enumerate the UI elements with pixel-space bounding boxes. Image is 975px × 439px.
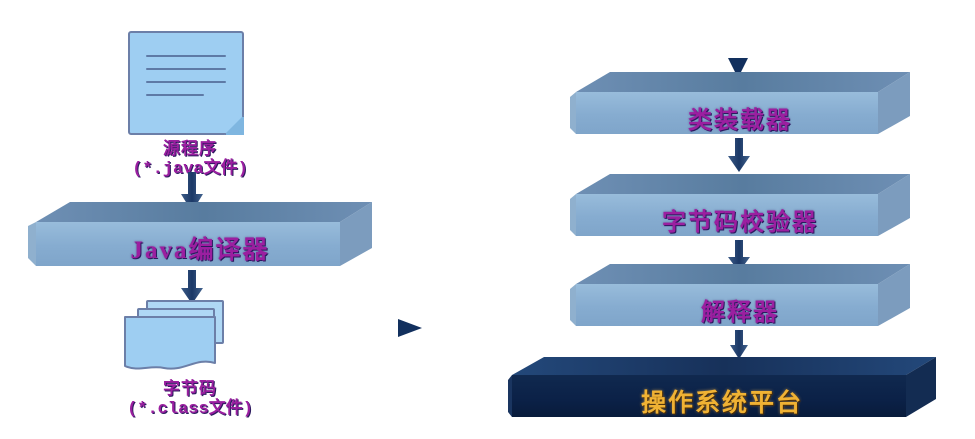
bytecode-caption-line2: (*.class文件) xyxy=(95,399,285,420)
node-interpreter[interactable]: 解释器 xyxy=(570,262,910,330)
bytecode-verifier-shape xyxy=(570,172,910,240)
node-bytecode-verifier[interactable]: 字节码校验器 xyxy=(570,172,910,240)
source-file-caption-line1: 源程序 xyxy=(110,138,270,159)
document-icon xyxy=(128,31,244,135)
bytecode-caption-line1: 字节码 xyxy=(95,378,285,399)
arrow-class-loader-to-verifier xyxy=(727,138,751,174)
diagram-canvas: 源程序 (*.java文件) xyxy=(0,0,975,439)
document-stack-icon xyxy=(124,300,234,376)
class-loader-shape xyxy=(570,70,910,138)
document-stack-sheet-front xyxy=(124,316,216,378)
document-icon-lines xyxy=(146,55,226,107)
node-class-loader[interactable]: 类装载器 xyxy=(570,70,910,138)
java-compiler-shape xyxy=(28,200,372,268)
bytecode-caption: 字节码 (*.class文件) xyxy=(95,378,285,421)
node-os-platform[interactable]: 操作系统平台 xyxy=(508,355,936,419)
os-platform-shape xyxy=(508,355,936,419)
node-java-compiler[interactable]: Java编译器 xyxy=(28,200,372,268)
document-icon-fold xyxy=(224,115,244,135)
interpreter-shape xyxy=(570,262,910,330)
